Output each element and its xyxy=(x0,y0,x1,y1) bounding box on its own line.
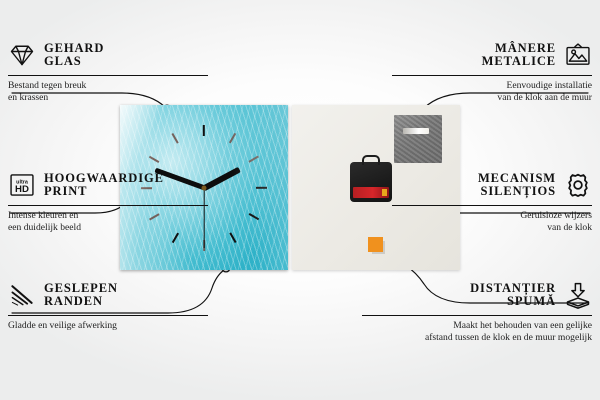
feature-manere-metalice: MÂNERE METALICE Eenvoudige installatie v… xyxy=(392,38,592,103)
feature-gehard-glas: GEHARD GLAS Bestand tegen breuk en krass… xyxy=(8,38,208,103)
feature-title: HOOGWAARDIGE PRINT xyxy=(44,172,164,199)
feature-title: GEHARD GLAS xyxy=(44,42,104,69)
feature-subtitle: Maakt het behouden van een gelijke afsta… xyxy=(362,320,592,343)
feature-title: DISTANȚIER SPUMĂ xyxy=(470,282,556,309)
clock-mechanism xyxy=(350,162,392,202)
foam-spacer-icon xyxy=(564,281,592,309)
clock-hour-hand xyxy=(203,166,241,190)
battery-tip xyxy=(382,189,387,196)
feature-rule xyxy=(8,315,208,316)
feature-subtitle: Geruisloze wijzers van de klok xyxy=(392,210,592,233)
feature-title: MECANISM SILENȚIOS xyxy=(478,172,556,199)
feature-geslepen-randen: GESLEPEN RANDEN Gladde en veilige afwerk… xyxy=(8,278,208,332)
feature-title: MÂNERE METALICE xyxy=(482,42,556,69)
feature-rule xyxy=(392,205,592,206)
foam-spacer xyxy=(368,237,383,252)
gear-icon xyxy=(564,171,592,199)
picture-hanger-icon xyxy=(564,41,592,69)
feature-subtitle: Bestand tegen breuk en krassen xyxy=(8,80,208,103)
feature-mecanism-silentios: MECANISM SILENȚIOS Geruisloze wijzers va… xyxy=(392,168,592,233)
product-feature-infographic: GEHARD GLAS Bestand tegen breuk en krass… xyxy=(0,0,600,400)
battery xyxy=(353,187,389,198)
feature-subtitle: Intense kleuren en een duidelijk beeld xyxy=(8,210,208,233)
diamond-icon xyxy=(8,41,36,69)
ultra-hd-large-label: HD xyxy=(15,184,29,195)
feature-hoogwaardige-print: ultra HD HOOGWAARDIGE PRINT Intense kleu… xyxy=(8,168,208,233)
feature-distantier-spuma: DISTANȚIER SPUMĂ Maakt het behouden van … xyxy=(362,278,592,343)
feature-subtitle: Eenvoudige installatie van de klok aan d… xyxy=(392,80,592,103)
feature-rule xyxy=(392,75,592,76)
mechanism-handle xyxy=(362,155,380,165)
ultra-hd-icon: ultra HD xyxy=(8,171,36,199)
feature-rule xyxy=(8,75,208,76)
feature-rule xyxy=(362,315,592,316)
metal-hanger-plate xyxy=(394,115,442,163)
feature-rule xyxy=(8,205,208,206)
feature-subtitle: Gladde en veilige afwerking xyxy=(8,320,208,332)
hanger-slot xyxy=(403,128,429,134)
feature-title: GESLEPEN RANDEN xyxy=(44,282,118,309)
beveled-edges-icon xyxy=(8,281,36,309)
